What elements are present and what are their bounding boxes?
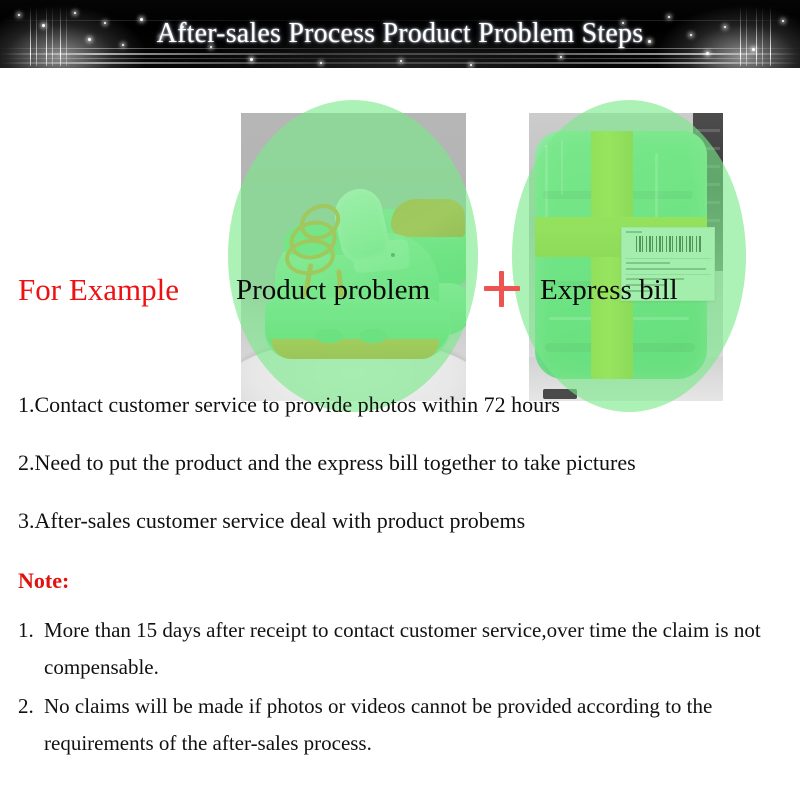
express-bill-photo <box>529 113 723 401</box>
barcode-icon <box>636 236 702 252</box>
note-item-marker: 1. <box>18 612 44 649</box>
sneaker-eyelet <box>391 253 395 257</box>
photo-backdrop <box>241 113 466 401</box>
note-item: 2.No claims will be made if photos or vi… <box>18 688 793 762</box>
banner-sparkle <box>74 12 76 14</box>
note-item-marker: 2. <box>18 688 44 725</box>
banner-light-band <box>0 62 800 64</box>
label-text-line <box>626 268 706 270</box>
note-item-text: More than 15 days after receipt to conta… <box>44 618 761 679</box>
process-step-3: 3.After-sales customer service deal with… <box>18 508 788 534</box>
express-bill-caption: Express bill <box>540 274 678 306</box>
banner-light-band <box>0 58 800 59</box>
sneaker-sole-notch <box>315 329 343 343</box>
process-steps-list: 1.Contact customer service to provide ph… <box>18 392 788 566</box>
banner-sparkle <box>706 52 709 55</box>
banner-light-band <box>0 53 800 55</box>
shelf-slat <box>696 129 720 132</box>
banner-sparkle <box>320 62 322 64</box>
sneaker-rear-lining <box>391 199 465 237</box>
note-item-text: No claims will be made if photos or vide… <box>44 694 712 755</box>
banner-sparkle <box>560 56 562 58</box>
label-divider <box>625 258 711 259</box>
page-title: After-sales Process Product Problem Step… <box>0 17 800 51</box>
product-problem-caption: Product problem <box>236 274 430 306</box>
bag-crease <box>655 153 658 219</box>
bag-crease <box>561 139 563 195</box>
sneaker-outsole-tread <box>271 339 439 359</box>
label-text-line <box>626 231 642 233</box>
product-problem-photo <box>241 113 466 401</box>
example-section: For Example <box>0 68 800 358</box>
page-header-banner: After-sales Process Product Problem Step… <box>0 0 800 68</box>
banner-sparkle <box>400 60 402 62</box>
banner-sparkle <box>18 14 20 16</box>
note-item: 1.More than 15 days after receipt to con… <box>18 612 793 686</box>
bag-crease <box>545 145 548 219</box>
sneaker-sole-notch <box>359 329 387 343</box>
banner-sparkle <box>250 58 253 61</box>
process-step-1: 1.Contact customer service to provide ph… <box>18 392 788 418</box>
for-example-label: For Example <box>18 273 179 307</box>
label-text-line <box>626 262 670 264</box>
note-heading: Note: <box>18 568 793 594</box>
process-step-2: 2.Need to put the product and the expres… <box>18 450 788 476</box>
banner-sparkle <box>470 64 472 66</box>
note-section: Note: 1.More than 15 days after receipt … <box>18 568 793 764</box>
photo-backdrop <box>529 113 723 401</box>
plus-icon <box>484 271 520 307</box>
